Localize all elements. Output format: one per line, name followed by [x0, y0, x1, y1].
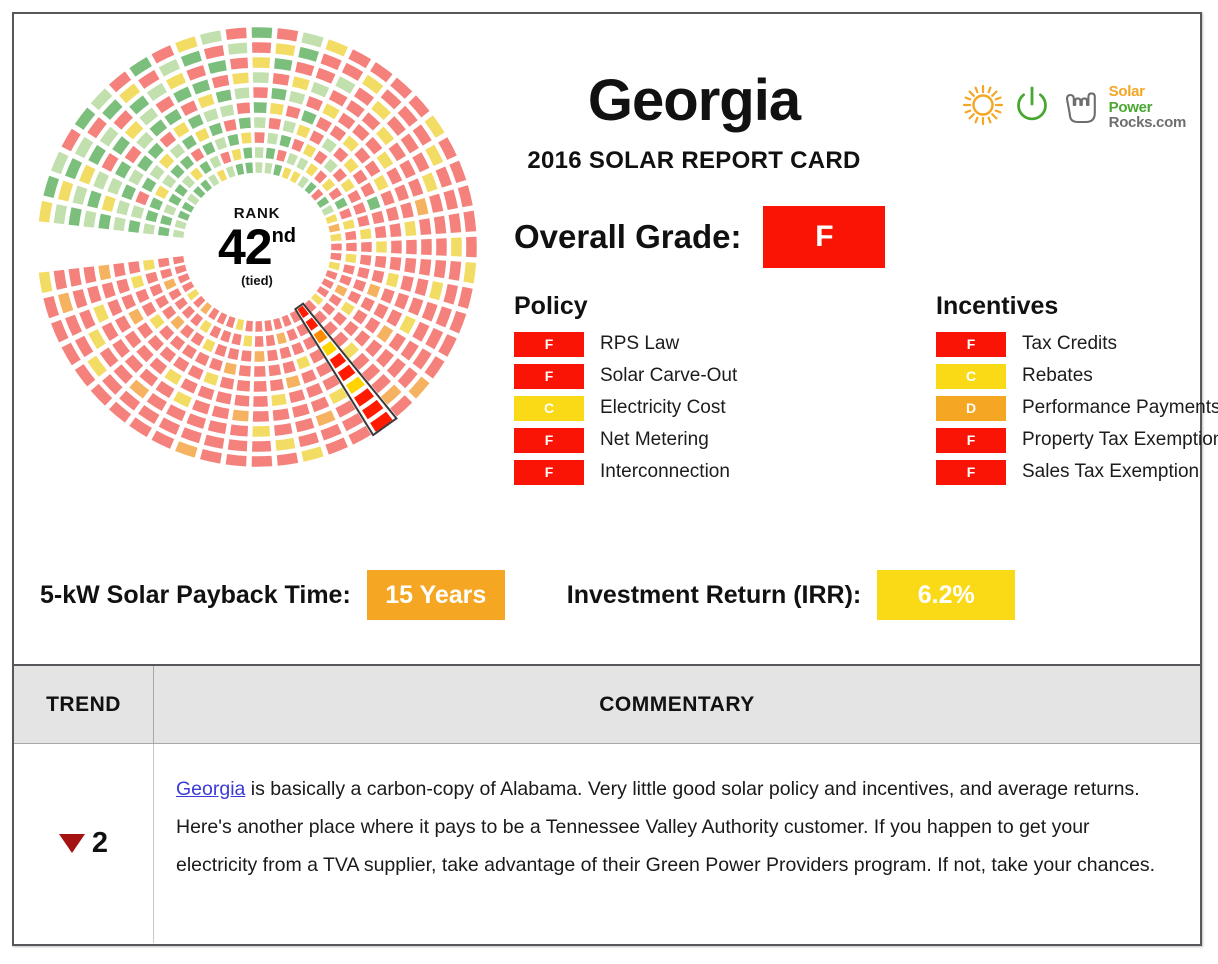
policy-item-grade-badge: F: [514, 364, 584, 389]
heatmap-cell: [121, 183, 137, 200]
heatmap-cell: [298, 46, 320, 63]
heatmap-cell: [43, 295, 60, 319]
heatmap-cell: [265, 147, 276, 160]
heatmap-cell: [83, 266, 97, 285]
heatmap-cell: [219, 104, 235, 118]
trend-down-icon: [59, 834, 85, 853]
heatmap-cell: [288, 90, 306, 105]
logo-line-power: Power: [1109, 100, 1186, 115]
heatmap-cell: [157, 226, 170, 237]
commentary-table: TREND COMMENTARY 2 Georgia is basically …: [14, 664, 1200, 944]
heatmap-cell: [282, 119, 297, 134]
heatmap-cell: [428, 280, 444, 301]
heatmap-cell: [342, 218, 356, 230]
heatmap-cell: [130, 204, 145, 219]
heatmap-cell: [57, 292, 74, 314]
heatmap-cell: [130, 274, 145, 289]
heatmap-cell: [202, 107, 219, 123]
heatmap-cell: [207, 59, 228, 74]
heatmap-cell: [254, 147, 264, 159]
heatmap-cell: [300, 109, 317, 125]
heatmap-cell: [145, 271, 159, 285]
heatmap-cell: [359, 254, 372, 266]
report-card: RANK 42 nd (tied) Georgia 2016 SOLAR REP…: [12, 12, 1202, 946]
metrics-row: 5-kW Solar Payback Time: 15 Years Invest…: [14, 570, 1200, 620]
heatmap-cell: [253, 117, 266, 129]
heatmap-cell: [236, 379, 251, 392]
heatmap-cell: [414, 278, 429, 297]
heatmap-cell: [142, 222, 155, 235]
heatmap-cell: [448, 212, 462, 233]
heatmap-cell: [269, 378, 284, 392]
incentive-item-grade-badge: D: [936, 396, 1006, 421]
heatmap-cell: [291, 403, 310, 419]
overall-grade-row: Overall Grade: F: [514, 206, 885, 268]
report-card-top: RANK 42 nd (tied) Georgia 2016 SOLAR REP…: [14, 14, 1200, 664]
heatmap-cell: [245, 320, 254, 332]
heatmap-cell: [127, 308, 144, 326]
heatmap-cell: [276, 149, 288, 163]
heatmap-cell: [38, 271, 53, 294]
heatmap-cell: [252, 72, 270, 84]
heatmap-cell: [197, 385, 215, 401]
heatmap-cell: [331, 243, 343, 252]
heatmap-cell: [223, 361, 238, 375]
heatmap-cell: [294, 417, 315, 433]
brand-logo-text: Solar Power Rocks.com: [1109, 84, 1186, 130]
heatmap-cell: [253, 380, 268, 392]
incentives-heading: Incentives: [936, 292, 1218, 321]
heatmap-cell: [275, 437, 296, 451]
heatmap-cell: [399, 275, 414, 293]
heatmap-cell: [399, 201, 414, 219]
heatmap-cell: [197, 93, 215, 109]
heatmap-cell: [380, 189, 396, 206]
heatmap-cell: [315, 361, 333, 378]
heatmap-cell: [301, 446, 325, 463]
policy-item-label: Solar Carve-Out: [600, 365, 737, 387]
heatmap-cell: [356, 214, 370, 227]
heatmap-cell: [113, 262, 127, 278]
policy-item-label: RPS Law: [600, 333, 679, 355]
policy-item-row: FRPS Law: [514, 330, 854, 358]
state-link[interactable]: Georgia: [176, 778, 245, 800]
heatmap-cell: [255, 162, 264, 174]
heatmap-cell: [371, 269, 385, 284]
heatmap-cell: [330, 252, 343, 261]
column-header-commentary: COMMENTARY: [154, 666, 1200, 743]
policy-item-grade-badge: F: [514, 428, 584, 453]
heatmap-cell: [268, 363, 282, 376]
trend-cell: 2: [14, 744, 154, 943]
heatmap-cell: [106, 177, 123, 196]
heatmap-cell: [279, 134, 293, 148]
heatmap-cell: [273, 57, 293, 71]
heatmap-cell: [389, 223, 402, 238]
heatmap-cell: [279, 346, 293, 360]
policy-item-row: CElectricity Cost: [514, 394, 854, 422]
incentive-item-row: FSales Tax Exemption: [936, 458, 1218, 486]
page-title: Georgia: [444, 72, 944, 130]
heatmap-cell: [254, 335, 264, 347]
heatmap-cell: [208, 357, 224, 372]
heatmap-cell: [272, 408, 290, 422]
heatmap-cell: [418, 258, 432, 276]
column-header-trend: TREND: [14, 666, 154, 743]
heatmap-cell: [393, 292, 409, 311]
heatmap-cell: [242, 335, 253, 348]
heatmap-cell: [428, 193, 444, 214]
incentive-item-label: Property Tax Exemption: [1022, 429, 1218, 451]
heatmap-cell: [389, 256, 402, 271]
heatmap-cell: [215, 390, 233, 405]
heatmap-cell: [266, 132, 278, 145]
heatmap-cell: [135, 190, 151, 206]
heatmap-cell: [371, 210, 385, 225]
heatmap-cell: [72, 288, 88, 309]
heatmap-cell: [266, 349, 278, 362]
policy-item-grade-badge: F: [514, 332, 584, 357]
heatmap-cell: [253, 365, 266, 377]
heatmap-cell: [342, 264, 356, 276]
heatmap-cell: [101, 281, 117, 299]
heatmap-cell: [273, 422, 293, 436]
heatmap-cell: [98, 264, 112, 281]
heatmap-cell: [344, 253, 357, 264]
heatmap-cell: [43, 175, 60, 199]
policy-column: Policy FRPS LawFSolar Carve-OutCElectric…: [514, 292, 854, 490]
incentive-item-label: Tax Credits: [1022, 333, 1117, 355]
heatmap-cell: [443, 189, 459, 211]
heatmap-cell: [186, 413, 207, 430]
heatmap-cell: [345, 242, 357, 252]
heatmap-cell: [407, 178, 424, 198]
heatmap-cell: [344, 230, 357, 241]
heatmap-cell: [252, 425, 271, 437]
heatmap-cell: [214, 136, 228, 151]
rank-value: 42 nd: [218, 222, 296, 272]
heatmap-cell: [356, 266, 370, 279]
rock-hand-icon: [1058, 83, 1102, 132]
heatmap-cell: [295, 124, 311, 140]
heatmap-cell: [92, 170, 109, 190]
heatmap-cell: [251, 455, 273, 467]
heatmap-cell: [315, 116, 333, 133]
rank-number: 42: [218, 222, 272, 272]
heatmap-cell: [403, 257, 417, 274]
heatmap-cell: [229, 57, 248, 71]
payback-label: 5-kW Solar Payback Time:: [40, 581, 351, 610]
heatmap-cell: [203, 44, 225, 60]
heatmap-cell: [433, 259, 447, 279]
heatmap-cell: [282, 360, 297, 375]
page-subtitle: 2016 SOLAR REPORT CARD: [444, 147, 944, 175]
heatmap-cell: [121, 293, 137, 310]
irr-metric: Investment Return (IRR): 6.2%: [567, 570, 1015, 620]
policy-item-label: Electricity Cost: [600, 397, 726, 419]
heatmap-cell: [275, 42, 296, 56]
heatmap-cell: [116, 278, 131, 295]
heatmap-cell: [305, 95, 324, 112]
heatmap-cell: [116, 199, 131, 216]
heatmap-cell: [194, 351, 210, 367]
heatmap-cell: [236, 102, 251, 115]
heatmap-cell: [254, 132, 266, 144]
overall-grade-badge: F: [763, 206, 885, 268]
incentives-column: Incentives FTax CreditsCRebatesDPerforma…: [936, 292, 1218, 490]
incentive-item-grade-badge: F: [936, 332, 1006, 357]
heatmap-cell: [374, 255, 387, 269]
heatmap-cell: [418, 217, 432, 235]
heatmap-cell: [92, 303, 109, 323]
heatmap-cell: [373, 302, 390, 320]
heatmap-cell: [463, 210, 477, 233]
incentive-item-row: FProperty Tax Exemption: [936, 426, 1218, 454]
heatmap-cell: [229, 424, 248, 438]
incentive-item-grade-badge: C: [936, 364, 1006, 389]
heatmap-cell: [448, 260, 462, 281]
heatmap-cell: [191, 399, 211, 416]
incentive-item-grade-badge: F: [936, 428, 1006, 453]
heatmap-cell: [272, 72, 290, 86]
heatmap-cell: [251, 42, 272, 54]
heatmap-cell: [420, 238, 432, 256]
heatmap-cell: [390, 240, 402, 255]
heatmap-cell: [242, 147, 253, 160]
heatmap-cell: [225, 27, 247, 41]
heatmap-cell: [433, 215, 447, 235]
incentive-item-label: Rebates: [1022, 365, 1093, 387]
heatmap-cell: [414, 197, 429, 216]
policy-list: FRPS LawFSolar Carve-OutCElectricity Cos…: [514, 330, 854, 486]
incentive-item-grade-badge: F: [936, 460, 1006, 485]
incentive-item-row: FTax Credits: [936, 330, 1218, 358]
heatmap-cell: [264, 319, 274, 332]
heatmap-cell: [187, 113, 205, 130]
heatmap-cell: [373, 174, 390, 192]
heatmap-cell: [172, 229, 185, 239]
heatmap-cell: [385, 272, 400, 288]
policy-item-row: FSolar Carve-Out: [514, 362, 854, 390]
incentives-list: FTax CreditsCRebatesDPerformance Payment…: [936, 330, 1218, 486]
heatmap-cell: [443, 283, 459, 305]
heatmap-cell: [366, 283, 381, 299]
heatmap-cell: [227, 347, 240, 361]
heatmap-cell: [269, 102, 284, 116]
heatmap-cell: [294, 61, 315, 77]
heatmap-cell: [207, 419, 228, 434]
heatmap-cell: [366, 195, 381, 211]
policy-item-grade-badge: C: [514, 396, 584, 421]
heatmap-cell: [295, 355, 311, 371]
incentive-item-row: CRebates: [936, 362, 1218, 390]
heatmap-cell: [288, 388, 306, 403]
heatmap-cell: [421, 301, 438, 322]
heatmap-cell: [113, 216, 127, 232]
heatmap-cell: [310, 81, 330, 98]
heatmap-cell: [380, 287, 396, 304]
heatmap-cell: [203, 434, 225, 450]
heatmap-cell: [271, 87, 288, 101]
rank-suffix: nd: [272, 226, 296, 246]
policy-item-grade-badge: F: [514, 460, 584, 485]
table-header-row: TREND COMMENTARY: [14, 666, 1200, 744]
heatmap-cell: [83, 210, 97, 229]
heatmap-cell: [57, 180, 74, 202]
heatmap-cell: [191, 79, 211, 96]
heatmap-cell: [127, 261, 141, 275]
heatmap-cell: [253, 395, 269, 407]
heatmap-cell: [255, 320, 264, 332]
heatmap-cell: [265, 334, 276, 347]
heatmap-cell: [300, 368, 317, 384]
heatmap-cell: [298, 431, 320, 448]
heatmap-cell: [245, 162, 254, 174]
heatmap-cell: [450, 237, 462, 258]
heatmap-cell: [199, 30, 222, 46]
heatmap-cell: [271, 393, 288, 407]
heatmap-cell: [208, 122, 224, 137]
heatmap-cell: [225, 453, 247, 467]
heatmap-cell: [53, 269, 68, 291]
heatmap-cell: [68, 207, 83, 227]
heatmap-cell: [405, 239, 417, 255]
heatmap-cell: [106, 298, 123, 317]
policy-item-label: Net Metering: [600, 429, 709, 451]
heatmap-cell: [72, 185, 88, 206]
heatmap-cell: [264, 162, 274, 175]
heatmap-cell: [68, 267, 83, 287]
logo-line-solar: Solar: [1109, 84, 1186, 99]
heatmap-cell: [127, 219, 141, 233]
policy-item-row: FNet Metering: [514, 426, 854, 454]
heatmap-cell: [135, 288, 151, 304]
table-row: 2 Georgia is basically a carbon-copy of …: [14, 744, 1200, 943]
trend-value: 2: [92, 827, 108, 860]
rank-tied-note: (tied): [241, 273, 273, 288]
heatmap-cell: [223, 118, 238, 132]
policy-item-label: Interconnection: [600, 461, 730, 483]
power-icon: [1010, 83, 1054, 132]
policy-heading: Policy: [514, 292, 854, 321]
heatmap-cell: [98, 213, 112, 230]
heatmap-cell: [305, 382, 324, 399]
heatmap-cell: [157, 257, 170, 268]
heatmap-cell: [215, 89, 233, 104]
heatmap-cell: [227, 439, 248, 453]
heatmap-cell: [101, 195, 117, 213]
heatmap-cell: [38, 200, 53, 223]
heatmap-cell: [253, 87, 269, 99]
heatmap-cell: [268, 117, 282, 130]
heatmap-cell: [211, 405, 230, 420]
heatmap-cell: [252, 57, 271, 69]
heatmap-cell: [227, 42, 248, 56]
heatmap-cell: [276, 452, 299, 467]
heatmap-cell: [403, 220, 417, 237]
heatmap-cell: [234, 87, 250, 100]
heatmap-cell: [457, 184, 474, 208]
irr-label: Investment Return (IRR):: [567, 581, 861, 610]
heatmap-cell: [234, 394, 250, 407]
heatmap-cell: [219, 376, 235, 390]
heatmap-cell: [457, 286, 474, 310]
heatmap-cell: [227, 133, 240, 147]
heatmap-cell: [86, 190, 102, 210]
heatmap-cell: [238, 117, 252, 130]
heatmap-cell: [465, 236, 477, 258]
policy-item-row: FInterconnection: [514, 458, 854, 486]
heatmap-cell: [330, 233, 343, 242]
heatmap-cell: [301, 31, 325, 48]
heatmap-cell: [375, 240, 387, 253]
heatmap-cell: [251, 440, 272, 452]
heatmap-cell: [310, 396, 330, 413]
rank-hub: RANK 42 nd (tied): [191, 181, 323, 313]
heatmap-cell: [238, 364, 252, 377]
heatmap-cell: [421, 172, 438, 193]
commentary-text: Georgia is basically a carbon-copy of Al…: [176, 770, 1166, 884]
heatmap-cell: [199, 448, 222, 464]
heatmap-cell: [211, 74, 230, 89]
heatmap-cell: [463, 261, 477, 284]
heatmap-cell: [285, 374, 301, 389]
incentive-item-label: Sales Tax Exemption: [1022, 461, 1199, 483]
heatmap-cell: [393, 183, 409, 202]
heatmap-cell: [186, 64, 207, 81]
sun-icon: [960, 82, 1006, 133]
heatmap-cell: [214, 343, 228, 358]
heatmap-cell: [145, 209, 159, 223]
commentary-cell: Georgia is basically a carbon-copy of Al…: [154, 744, 1200, 943]
overall-grade-label: Overall Grade:: [514, 218, 741, 256]
heatmap-cell: [240, 132, 252, 145]
heatmap-cell: [231, 409, 249, 422]
heatmap-cell: [276, 28, 299, 43]
incentive-item-label: Performance Payments: [1022, 397, 1218, 419]
heatmap-cell: [86, 285, 102, 305]
heatmap-cell: [202, 371, 219, 387]
brand-logo[interactable]: Solar Power Rocks.com: [960, 82, 1186, 133]
heatmap-cell: [291, 75, 310, 91]
heatmap-cell: [251, 27, 273, 39]
grade-columns: Policy FRPS LawFSolar Carve-OutCElectric…: [514, 292, 1218, 490]
heatmap-cell: [359, 228, 372, 240]
payback-value: 15 Years: [367, 570, 505, 620]
heatmap-cell: [187, 364, 205, 381]
radial-grade-chart: RANK 42 nd (tied): [32, 22, 482, 472]
payback-metric: 5-kW Solar Payback Time: 15 Years: [40, 570, 505, 620]
heatmap-cell: [285, 105, 301, 120]
heatmap-cell: [385, 206, 400, 222]
commentary-body: is basically a carbon-copy of Alabama. V…: [176, 778, 1155, 876]
logo-line-rocks: Rocks.com: [1109, 115, 1186, 130]
heatmap-cell: [407, 296, 424, 316]
heatmap-cell: [435, 237, 447, 256]
heatmap-cell: [374, 225, 387, 239]
heatmap-cell: [276, 331, 288, 345]
heatmap-cell: [240, 349, 252, 362]
heatmap-cell: [53, 203, 68, 225]
incentive-item-row: DPerformance Payments: [936, 394, 1218, 422]
irr-value: 6.2%: [877, 570, 1015, 620]
heatmap-cell: [127, 168, 144, 186]
heatmap-cell: [254, 350, 266, 362]
heatmap-cell: [253, 102, 268, 114]
heatmap-cell: [231, 72, 249, 85]
heatmap-cell: [360, 241, 372, 253]
heatmap-cell: [194, 127, 210, 143]
